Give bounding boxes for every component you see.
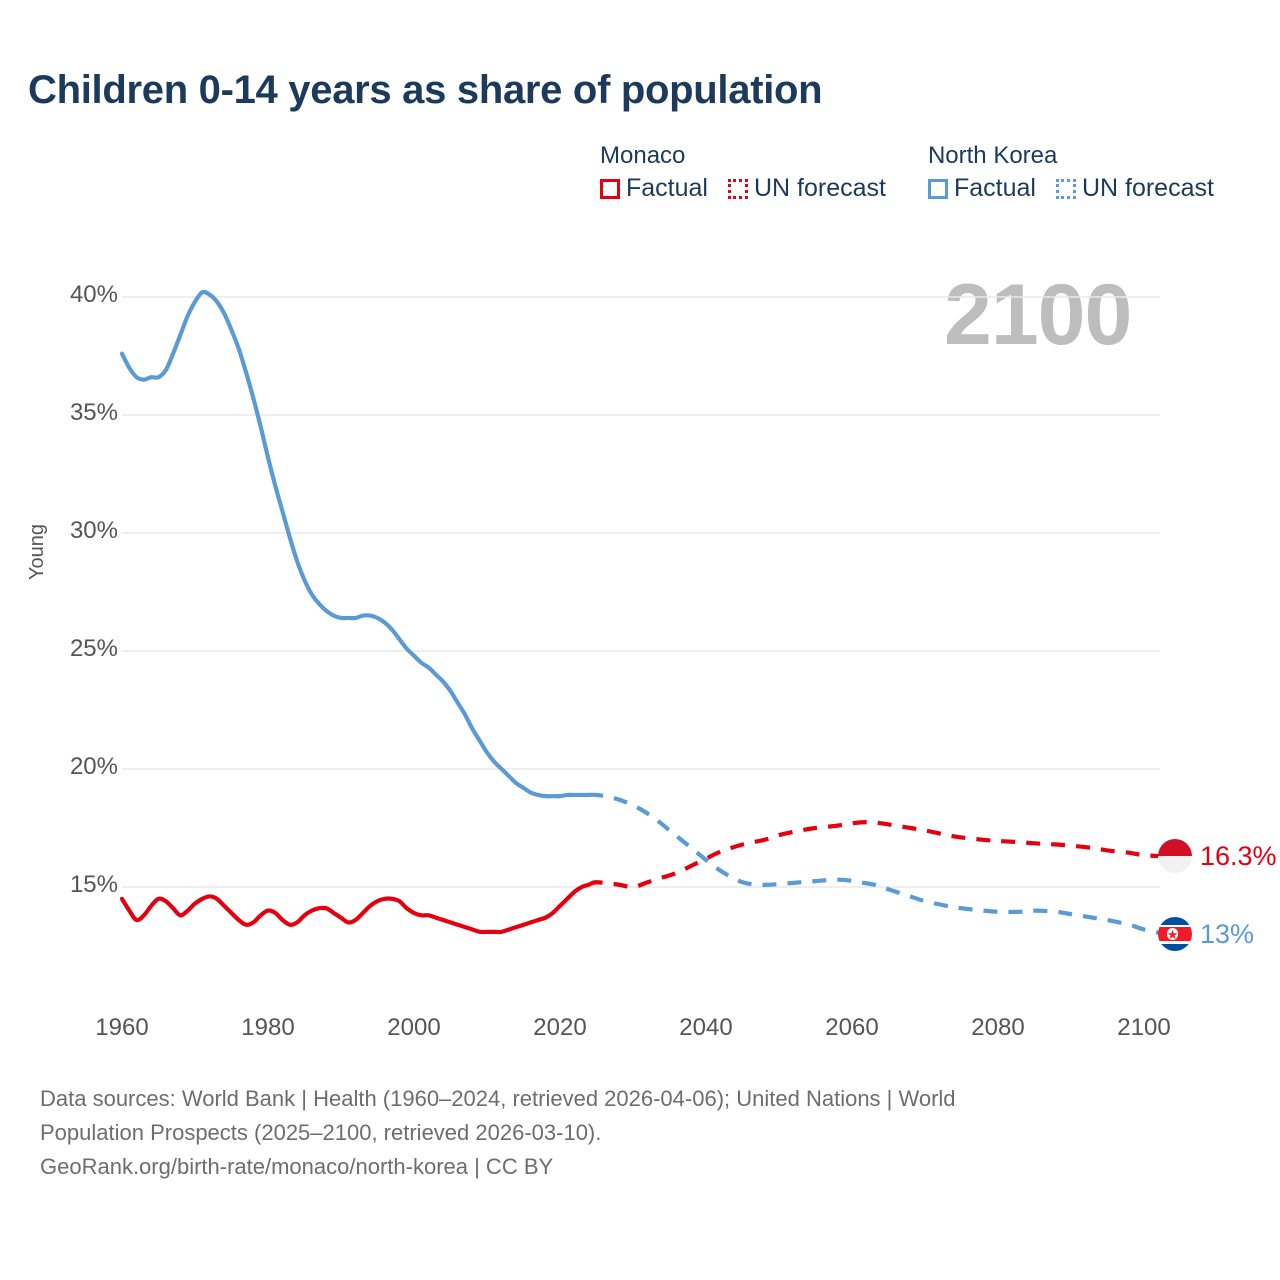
footer-line-1: Data sources: World Bank | Health (1960–… bbox=[40, 1082, 1220, 1116]
monaco-flag-icon bbox=[1158, 839, 1192, 873]
x-axis-tick-label: 2080 bbox=[971, 1014, 1024, 1042]
x-axis-tick-label: 2100 bbox=[1117, 1014, 1170, 1042]
north-korea-flag-icon: ★ bbox=[1158, 917, 1192, 951]
footer-sources: Data sources: World Bank | Health (1960–… bbox=[40, 1082, 1220, 1184]
x-axis-tick-label: 2060 bbox=[825, 1014, 878, 1042]
end-label-north-korea: ★ 13% bbox=[1158, 917, 1254, 951]
end-label-value: 16.3% bbox=[1200, 841, 1277, 872]
footer-line-3[interactable]: GeoRank.org/birth-rate/monaco/north-kore… bbox=[40, 1150, 1220, 1184]
x-axis-tick-label: 1980 bbox=[241, 1014, 294, 1042]
footer-line-2: Population Prospects (2025–2100, retriev… bbox=[40, 1116, 1220, 1150]
x-axis-tick-label: 2000 bbox=[387, 1014, 440, 1042]
end-label-value: 13% bbox=[1200, 919, 1254, 950]
chart-page: Children 0-14 years as share of populati… bbox=[0, 0, 1280, 1280]
x-axis-tick-label: 1960 bbox=[95, 1014, 148, 1042]
x-axis-tick-label: 2020 bbox=[533, 1014, 586, 1042]
end-label-monaco: 16.3% bbox=[1158, 839, 1277, 873]
x-axis-tick-label: 2040 bbox=[679, 1014, 732, 1042]
